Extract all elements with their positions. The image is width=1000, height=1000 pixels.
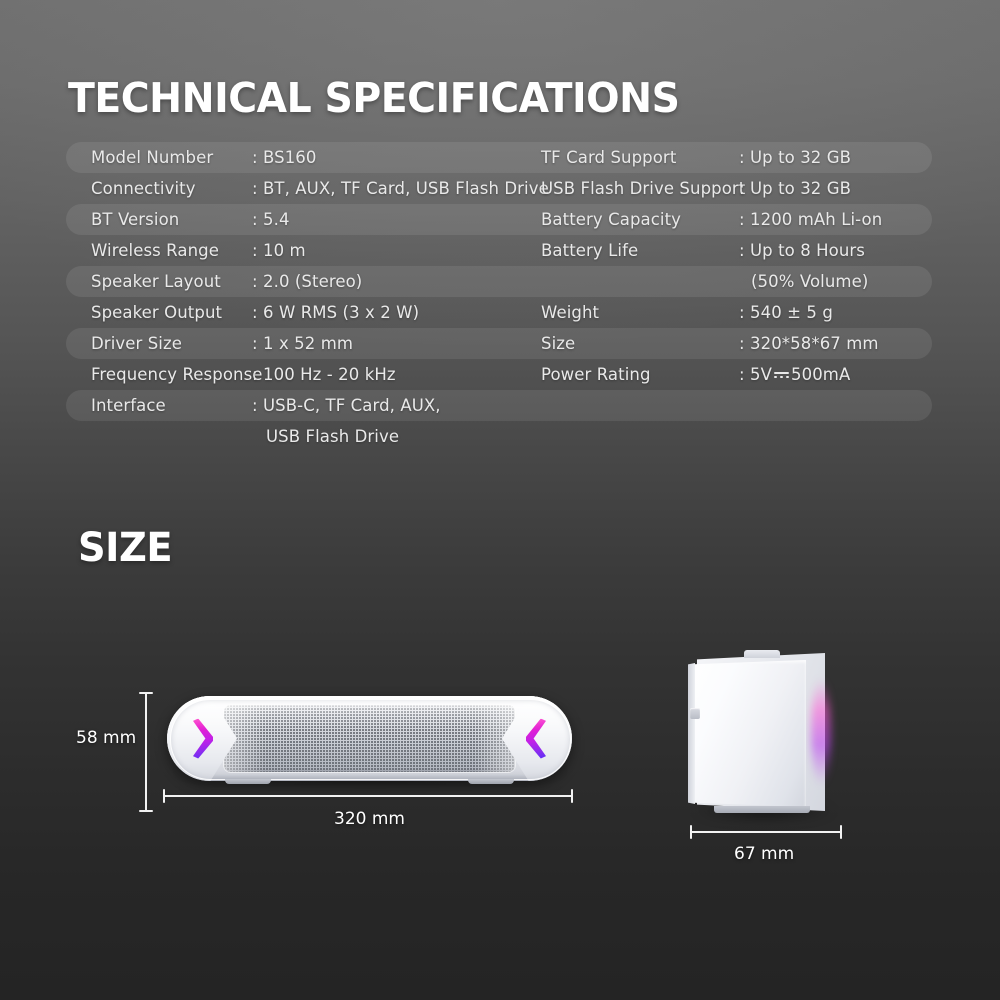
spec-sheet-page: TECHNICAL SPECIFICATIONS Model Number : …	[0, 0, 1000, 1000]
spec-label: Interface	[91, 390, 166, 421]
depth-dimension-line	[690, 831, 842, 833]
depth-dimension-label: 67 mm	[734, 844, 794, 864]
spec-value: : 1200 mAh Li-on	[739, 204, 882, 235]
spec-label: Weight	[541, 297, 599, 328]
table-row: USB Flash Drive	[66, 421, 932, 452]
side-base	[714, 806, 810, 813]
spec-value: : 6 W RMS (3 x 2 W)	[252, 297, 419, 328]
size-heading: SIZE	[78, 525, 172, 571]
table-row: Connectivity : BT, AUX, TF Card, USB Fla…	[66, 173, 932, 204]
spec-value: : 5.4	[252, 204, 290, 235]
table-row: BT Version : 5.4 Battery Capacity : 1200…	[66, 204, 932, 235]
spec-label: Battery Life	[541, 235, 638, 266]
width-dimension-cap-left	[163, 789, 165, 803]
spec-label: Model Number	[91, 142, 213, 173]
spec-value: : 100 Hz - 20 kHz	[252, 359, 396, 390]
spec-label: Speaker Output	[91, 297, 222, 328]
table-row: Speaker Layout : 2.0 (Stereo) (50% Volum…	[66, 266, 932, 297]
height-dimension-label: 58 mm	[76, 728, 136, 748]
side-left-edge	[688, 660, 695, 807]
speaker-body	[167, 696, 572, 781]
speaker-side-view-image	[688, 650, 840, 818]
table-row: Wireless Range : 10 m Battery Life : Up …	[66, 235, 932, 266]
speaker-foot	[468, 779, 514, 784]
table-row: Interface : USB-C, TF Card, AUX,	[66, 390, 932, 421]
side-port-icon	[690, 708, 700, 719]
spec-label: USB Flash Drive Support	[541, 173, 745, 204]
spec-value: : 320*58*67 mm	[739, 328, 879, 359]
technical-specifications-heading: TECHNICAL SPECIFICATIONS	[68, 74, 679, 122]
spec-value: : Up to 32 GB	[739, 173, 851, 204]
power-value-prefix: : 5V	[739, 365, 772, 384]
spec-label: Connectivity	[91, 173, 196, 204]
spec-value: : BS160	[252, 142, 317, 173]
spec-value: : 2.0 (Stereo)	[252, 266, 362, 297]
speaker-foot	[225, 779, 271, 784]
side-main-panel	[688, 660, 806, 807]
depth-dimension-cap-right	[840, 825, 842, 839]
size-diagram: 58 mm 320 mm 67 mm	[0, 600, 1000, 940]
table-row: Frequency Response : 100 Hz - 20 kHz Pow…	[66, 359, 932, 390]
spec-value-power: : 5V500mA	[739, 359, 850, 390]
width-dimension-line	[163, 795, 573, 797]
side-top-tab	[744, 650, 780, 658]
spec-label: Power Rating	[541, 359, 651, 390]
power-value-suffix: 500mA	[791, 365, 850, 384]
spec-value: : Up to 32 GB	[739, 142, 851, 173]
spec-label: Battery Capacity	[541, 204, 681, 235]
height-dimension-cap-bottom	[139, 810, 153, 812]
spec-label: Wireless Range	[91, 235, 219, 266]
spec-label: BT Version	[91, 204, 179, 235]
height-dimension-line	[145, 692, 147, 812]
spec-label: TF Card Support	[541, 142, 676, 173]
table-row: Speaker Output : 6 W RMS (3 x 2 W) Weigh…	[66, 297, 932, 328]
specifications-table: Model Number : BS160 TF Card Support : U…	[66, 142, 932, 452]
speaker-front-view-image	[167, 696, 572, 781]
height-dimension-cap-top	[139, 692, 153, 694]
spec-value: : 540 ± 5 g	[739, 297, 833, 328]
dc-power-icon	[774, 370, 789, 381]
width-dimension-label: 320 mm	[334, 809, 405, 829]
spec-value: : 1 x 52 mm	[252, 328, 353, 359]
spec-label: Size	[541, 328, 575, 359]
spec-value-continuation: (50% Volume)	[751, 266, 868, 297]
depth-dimension-cap-left	[690, 825, 692, 839]
table-row: Driver Size : 1 x 52 mm Size : 320*58*67…	[66, 328, 932, 359]
spec-value: : Up to 8 Hours	[739, 235, 865, 266]
rgb-side-glow-icon	[811, 678, 831, 786]
spec-value: : 10 m	[252, 235, 306, 266]
spec-value-continuation: USB Flash Drive	[266, 421, 399, 452]
spec-value: : USB-C, TF Card, AUX,	[252, 390, 441, 421]
spec-label: Driver Size	[91, 328, 182, 359]
spec-label: Frequency Response	[91, 359, 263, 390]
speaker-grille	[224, 705, 515, 772]
spec-label: Speaker Layout	[91, 266, 221, 297]
width-dimension-cap-right	[571, 789, 573, 803]
table-row: Model Number : BS160 TF Card Support : U…	[66, 142, 932, 173]
spec-value: : BT, AUX, TF Card, USB Flash Drive	[252, 173, 549, 204]
